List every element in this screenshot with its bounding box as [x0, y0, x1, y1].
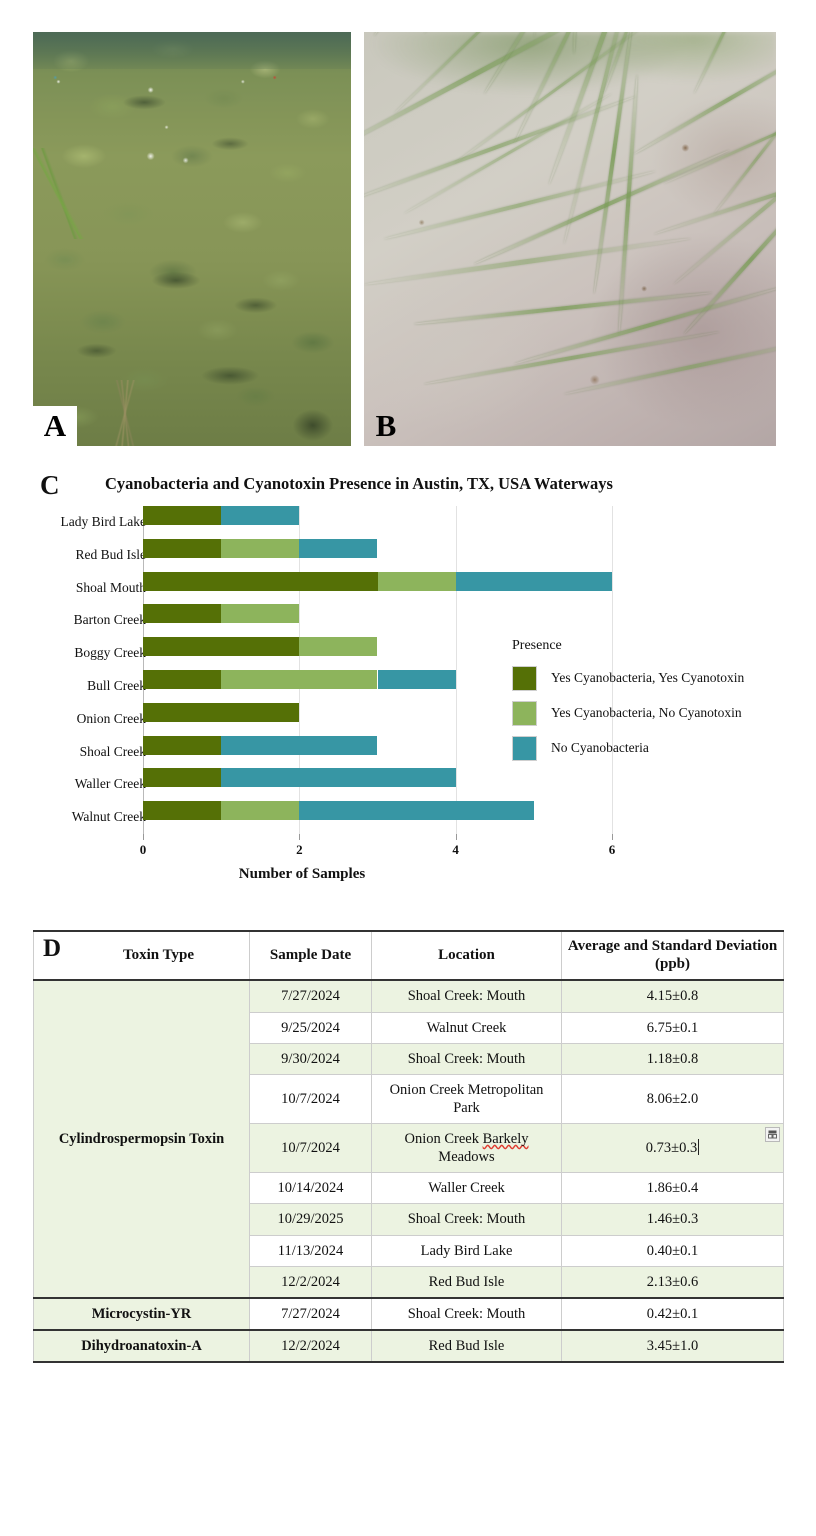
- chart-bar-segment[interactable]: [456, 572, 612, 591]
- legend-entries: Yes Cyanobacteria, Yes CyanotoxinYes Cya…: [512, 663, 812, 763]
- chart-bar-segment[interactable]: [143, 604, 221, 623]
- chart-bar-segment[interactable]: [221, 506, 299, 525]
- chart-bar-segment[interactable]: [221, 539, 299, 558]
- panel-c-label: C: [40, 470, 60, 501]
- column-header-location: Location: [372, 931, 562, 980]
- table-cell-average-sd[interactable]: 8.06±2.0: [562, 1074, 784, 1123]
- chart-x-tick-label: 6: [609, 842, 616, 858]
- table-cell-average-sd[interactable]: 0.42±0.1: [562, 1298, 784, 1330]
- chart-category-label: Shoal Creek: [80, 736, 146, 769]
- chart-category-label: Waller Creek: [75, 768, 146, 801]
- chart-bar-segment[interactable]: [299, 801, 534, 820]
- table-cell-location[interactable]: Red Bud Isle: [372, 1266, 562, 1298]
- panel-d-table-wrap: D Toxin Type Sample Date Location Averag…: [33, 930, 783, 1363]
- table-cell-location[interactable]: Lady Bird Lake: [372, 1235, 562, 1266]
- table-cell-average-sd[interactable]: 0.40±0.1: [562, 1235, 784, 1266]
- table-cell-toxin-type[interactable]: Cylindrospermopsin Toxin: [34, 980, 250, 1297]
- chart-x-tick-label: 4: [452, 842, 459, 858]
- legend-entry[interactable]: Yes Cyanobacteria, No Cyanotoxin: [512, 698, 812, 728]
- chart-x-tick: [612, 834, 613, 840]
- chart-x-tick: [143, 834, 144, 840]
- table-row[interactable]: Microcystin-YR7/27/2024Shoal Creek: Mout…: [34, 1298, 784, 1330]
- table-cell-average-sd[interactable]: 6.75±0.1: [562, 1012, 784, 1043]
- chart-bar-row: Walnut Creek: [0, 801, 816, 834]
- table-cell-average-sd[interactable]: 1.18±0.8: [562, 1043, 784, 1074]
- chart-category-label: Red Bud Isle: [76, 539, 147, 572]
- chart-bar-row: Shoal Mouth: [0, 572, 816, 605]
- chart-bar-segment[interactable]: [221, 801, 299, 820]
- chart-x-tick: [299, 834, 300, 840]
- panel-a-pond-algae-photo: A: [33, 32, 351, 446]
- table-cell-sample-date[interactable]: 10/14/2024: [250, 1173, 372, 1204]
- table-cell-location[interactable]: Shoal Creek: Mouth: [372, 1043, 562, 1074]
- table-cell-sample-date[interactable]: 11/13/2024: [250, 1235, 372, 1266]
- table-body: Cylindrospermopsin Toxin7/27/2024Shoal C…: [34, 980, 784, 1362]
- chart-bar-segment[interactable]: [143, 539, 221, 558]
- legend-swatch: [512, 701, 537, 726]
- table-cell-average-sd[interactable]: 1.86±0.4: [562, 1173, 784, 1204]
- table-cell-sample-date[interactable]: 7/27/2024: [250, 1298, 372, 1330]
- table-cell-location[interactable]: Shoal Creek: Mouth: [372, 1204, 562, 1235]
- table-cell-toxin-type[interactable]: Microcystin-YR: [34, 1298, 250, 1330]
- table-cell-sample-date[interactable]: 9/25/2024: [250, 1012, 372, 1043]
- table-cell-sample-date[interactable]: 9/30/2024: [250, 1043, 372, 1074]
- chart-category-label: Lady Bird Lake: [61, 506, 146, 539]
- legend-swatch: [512, 666, 537, 691]
- chart-category-label: Boggy Creek: [74, 637, 146, 670]
- table-cell-toxin-type[interactable]: Dihydroanatoxin-A: [34, 1330, 250, 1362]
- column-header-sample-date: Sample Date: [250, 931, 372, 980]
- chart-bar-segment[interactable]: [299, 539, 377, 558]
- chart-x-tick: [456, 834, 457, 840]
- chart-bar-segment[interactable]: [221, 736, 377, 755]
- chart-category-label: Bull Creek: [87, 670, 146, 703]
- table-cell-sample-date[interactable]: 10/29/2025: [250, 1204, 372, 1235]
- table-cell-location[interactable]: Shoal Creek: Mouth: [372, 1298, 562, 1330]
- table-cell-sample-date[interactable]: 10/7/2024: [250, 1074, 372, 1123]
- chart-x-axis-title: Number of Samples: [0, 866, 604, 883]
- chart-category-label: Onion Creek: [77, 703, 146, 736]
- chart-bar-row: Red Bud Isle: [0, 539, 816, 572]
- chart-bar-segment[interactable]: [143, 670, 221, 689]
- chart-bar-segment[interactable]: [299, 637, 377, 656]
- shoreline-plant: [33, 148, 84, 239]
- table-cell-sample-date[interactable]: 12/2/2024: [250, 1266, 372, 1298]
- text-cursor: [698, 1139, 699, 1155]
- column-header-average-sd: Average and Standard Deviation (ppb): [562, 931, 784, 980]
- legend-label: Yes Cyanobacteria, Yes Cyanotoxin: [551, 670, 744, 686]
- chart-bar-segment[interactable]: [378, 670, 456, 689]
- legend-label: Yes Cyanobacteria, No Cyanotoxin: [551, 705, 742, 721]
- table-cell-average-sd[interactable]: 0.73±0.3: [562, 1124, 784, 1173]
- panel-b-label: B: [364, 406, 408, 446]
- chart-bar-segment[interactable]: [143, 736, 221, 755]
- chart-bar-segment[interactable]: [143, 801, 221, 820]
- toxin-results-table: Toxin Type Sample Date Location Average …: [33, 930, 784, 1363]
- chart-bar-segment[interactable]: [143, 768, 221, 787]
- chart-x-tick-label: 0: [140, 842, 147, 858]
- panel-c-chart: C Cyanobacteria and Cyanotoxin Presence …: [0, 462, 816, 922]
- panel-a-label: A: [33, 406, 77, 446]
- chart-bar-segment[interactable]: [143, 637, 299, 656]
- panel-b-microscopy-photo: B: [364, 32, 776, 446]
- table-cell-average-sd[interactable]: 4.15±0.8: [562, 980, 784, 1012]
- chart-category-label: Shoal Mouth: [76, 572, 146, 605]
- chart-bar-row: Waller Creek: [0, 768, 816, 801]
- table-cell-location[interactable]: Onion Creek Barkely Meadows: [372, 1124, 562, 1173]
- table-header-row: Toxin Type Sample Date Location Average …: [34, 931, 784, 980]
- chart-bar-segment[interactable]: [143, 572, 378, 591]
- table-cell-location[interactable]: Walnut Creek: [372, 1012, 562, 1043]
- table-cell-sample-date[interactable]: 10/7/2024: [250, 1124, 372, 1173]
- chart-bar-segment[interactable]: [221, 604, 299, 623]
- chart-bar-segment[interactable]: [221, 670, 377, 689]
- chart-bar-segment[interactable]: [221, 768, 456, 787]
- table-cell-sample-date[interactable]: 12/2/2024: [250, 1330, 372, 1362]
- misspelled-word: Barkely: [483, 1131, 529, 1147]
- microscope-debris: [364, 32, 776, 446]
- panel-d-label: D: [43, 935, 61, 963]
- table-cell-location[interactable]: Red Bud Isle: [372, 1330, 562, 1362]
- table-cell-location[interactable]: Onion Creek Metropolitan Park: [372, 1074, 562, 1123]
- chart-x-tick-label: 2: [296, 842, 303, 858]
- chart-legend: Presence Yes Cyanobacteria, Yes Cyanotox…: [512, 638, 812, 768]
- legend-label: No Cyanobacteria: [551, 740, 649, 756]
- legend-swatch: [512, 736, 537, 761]
- chart-category-label: Barton Creek: [74, 604, 146, 637]
- chart-bar-row: Lady Bird Lake: [0, 506, 816, 539]
- chart-bar-segment[interactable]: [143, 703, 299, 722]
- table-cell-location[interactable]: Waller Creek: [372, 1173, 562, 1204]
- legend-entry[interactable]: No Cyanobacteria: [512, 733, 812, 763]
- figure-photo-panels: A B: [0, 0, 816, 460]
- table-head: Toxin Type Sample Date Location Average …: [34, 931, 784, 980]
- chart-title: Cyanobacteria and Cyanotoxin Presence in…: [105, 474, 805, 494]
- legend-entry[interactable]: Yes Cyanobacteria, Yes Cyanotoxin: [512, 663, 812, 693]
- table-cell-average-sd[interactable]: 1.46±0.3: [562, 1204, 784, 1235]
- chart-bar-row: Barton Creek: [0, 604, 816, 637]
- table-cell-sample-date[interactable]: 7/27/2024: [250, 980, 372, 1012]
- column-header-toxin-type: Toxin Type: [34, 931, 250, 980]
- chart-category-label: Walnut Creek: [72, 801, 146, 834]
- table-row[interactable]: Cylindrospermopsin Toxin7/27/2024Shoal C…: [34, 980, 784, 1012]
- legend-title: Presence: [512, 638, 812, 654]
- chart-bar-segment[interactable]: [143, 506, 221, 525]
- table-cell-average-sd[interactable]: 2.13±0.6: [562, 1266, 784, 1298]
- table-row[interactable]: Dihydroanatoxin-A12/2/2024Red Bud Isle3.…: [34, 1330, 784, 1362]
- chart-bar-segment[interactable]: [378, 572, 456, 591]
- table-cell-options-icon[interactable]: [765, 1127, 780, 1142]
- table-cell-average-sd[interactable]: 3.45±1.0: [562, 1330, 784, 1362]
- table-cell-location[interactable]: Shoal Creek: Mouth: [372, 980, 562, 1012]
